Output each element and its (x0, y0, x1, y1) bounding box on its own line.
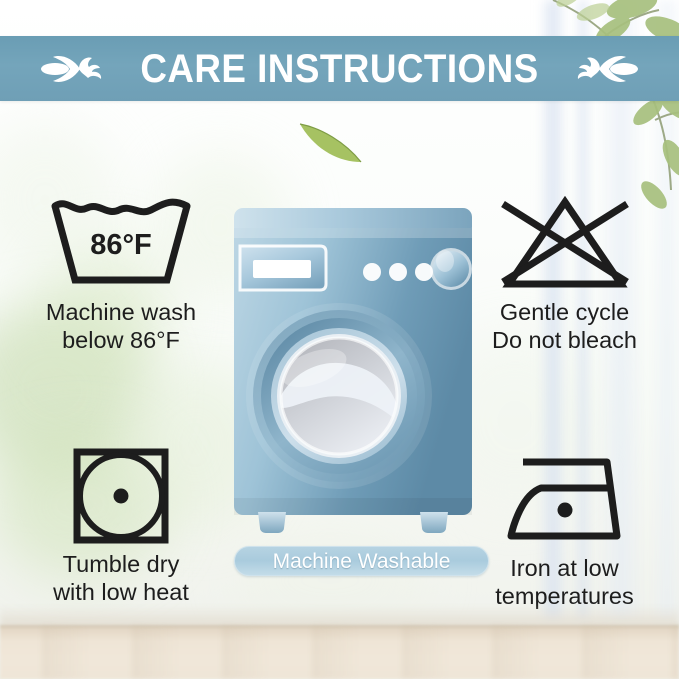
care-symbol-tumble-dry: Tumble dry with low heat (6, 448, 236, 606)
washing-machine-illustration (228, 206, 478, 536)
do-not-bleach-triangle-icon (452, 196, 677, 292)
care-symbol-do-not-bleach: Gentle cycle Do not bleach (452, 196, 677, 354)
foliage-branch-icon (535, 0, 679, 220)
machine-washable-badge-label: Machine Washable (273, 551, 451, 572)
care-symbol-caption: Tumble dry with low heat (6, 551, 236, 606)
fleur-de-lis-ornament-left-icon (39, 49, 107, 89)
header-banner: CARE INSTRUCTIONS (0, 36, 679, 101)
care-symbol-iron: Iron at low temperatures (452, 452, 677, 610)
table-edge-highlight (0, 605, 679, 627)
wash-temperature-value: 86°F (90, 229, 152, 261)
tumble-dry-low-icon (6, 448, 236, 544)
fleur-de-lis-ornament-right-icon (572, 49, 640, 89)
iron-low-heat-icon (452, 452, 677, 548)
table-wood-grain (0, 625, 679, 679)
machine-washable-badge: Machine Washable (234, 546, 489, 576)
page-title: CARE INSTRUCTIONS (140, 49, 538, 89)
floating-leaf-icon (295, 118, 365, 166)
care-symbol-machine-wash: 86°F Machine wash below 86°F (6, 196, 236, 354)
care-symbol-caption: Gentle cycle Do not bleach (452, 299, 677, 354)
care-instructions-graphic: CARE INSTRUCTIONS 86°F Machine wash belo… (0, 0, 679, 679)
table-surface (0, 607, 679, 679)
wash-tub-icon: 86°F (6, 196, 236, 292)
care-symbol-caption: Machine wash below 86°F (6, 299, 236, 354)
